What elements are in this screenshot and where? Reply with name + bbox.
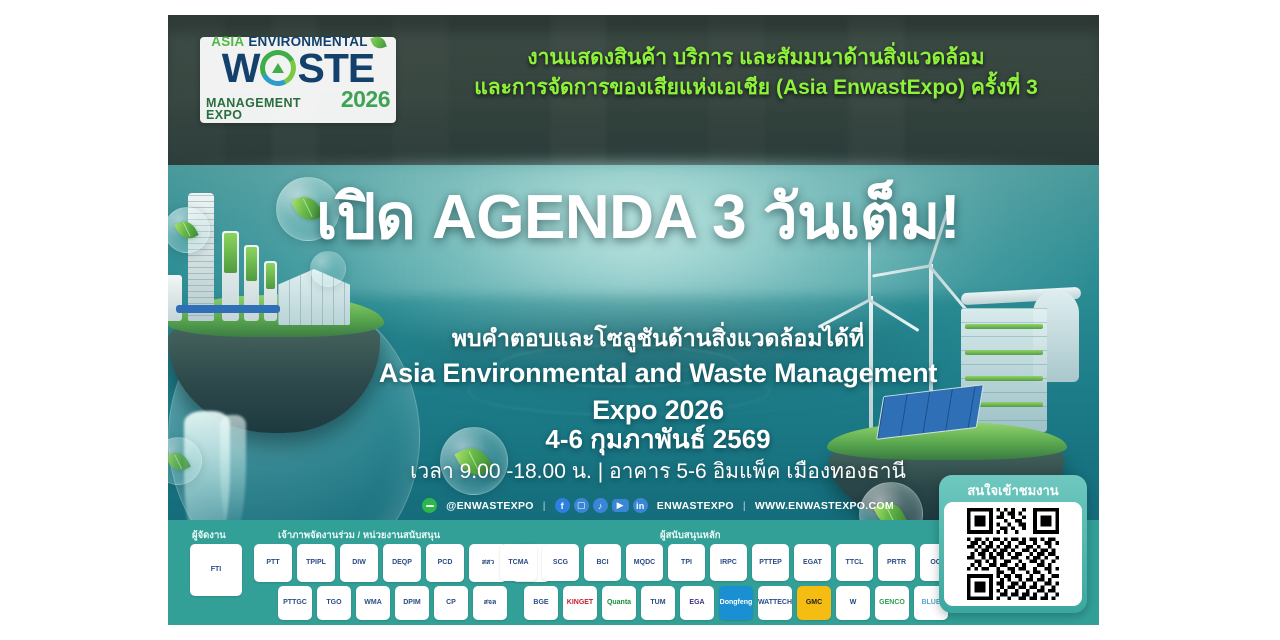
sponsor-logo: Dongfeng	[719, 586, 753, 620]
small-bubble	[310, 251, 346, 287]
qr-card[interactable]: สนใจเข้าชมงาน	[939, 475, 1087, 613]
recycle-ring	[256, 46, 301, 91]
header-thai-text: งานแสดงสินค้า บริการ และสัมมนาด้านสิ่งแว…	[436, 43, 1076, 104]
sponsor-logo: PTTEP	[752, 544, 789, 581]
social-handle: ENWASTEXPO	[657, 500, 734, 512]
sponsor-logo: WATTECH	[758, 586, 792, 620]
logo-year-text: 2026	[341, 88, 390, 111]
sponsor-logo: KINGET	[563, 586, 597, 620]
sponsor-logo: W	[836, 586, 870, 620]
building-greenery	[965, 324, 1043, 329]
label-cohost: เจ้าภาพจัดงานร่วม / หน่วยงานสนับสนุน	[278, 528, 440, 543]
sponsor-logo: GENCO	[875, 586, 909, 620]
website-url[interactable]: WWW.ENWASTEXPO.COM	[755, 500, 894, 512]
sponsor-logo: BCI	[584, 544, 621, 581]
sponsor-logo: DIW	[340, 544, 378, 582]
sponsor-logo: TPIPL	[297, 544, 335, 582]
logo-management-expo-text: MANAGEMENT EXPO	[206, 97, 335, 122]
sponsor-logo: SCG	[542, 544, 579, 581]
leaf-icon	[174, 217, 198, 243]
separator: |	[543, 500, 546, 512]
organizer-logo-row: FTI	[190, 544, 242, 596]
sponsor-logo: PTT	[254, 544, 292, 582]
logo-bottom-line: MANAGEMENT EXPO 2026	[206, 88, 390, 122]
event-date: 4-6 กุมภาพันธ์ 2569	[348, 419, 968, 460]
building-greenery	[965, 376, 1043, 381]
sponsor-logo: TCMA	[500, 544, 537, 581]
factory-stack-green	[266, 263, 275, 289]
sponsor-logo-row-2: BGE KINGET Quanta TUM EGA Dongfeng WATTE…	[524, 586, 948, 620]
sponsor-logo-row-1: TCMA SCG BCI MQDC TPI IRPC PTTEP EGAT TT…	[500, 544, 999, 581]
cohost-logo-row-2: PTTGC TGO WMA DPIM CP สจล	[278, 586, 507, 620]
header-line-1: งานแสดงสินค้า บริการ และสัมมนาด้านสิ่งแว…	[436, 43, 1076, 73]
recycle-icon	[260, 50, 296, 86]
sponsor-logo: PCD	[426, 544, 464, 582]
sponsor-logo: DPIM	[395, 586, 429, 620]
sponsor-logo: PTTGC	[278, 586, 312, 620]
label-sponsors: ผู้สนับสนุนหลัก	[660, 528, 721, 543]
logo-waste-ste: STE	[297, 49, 374, 88]
sponsor-logo: TPI	[668, 544, 705, 581]
separator: |	[743, 500, 746, 512]
sponsor-logo: IRPC	[710, 544, 747, 581]
qr-title: สนใจเข้าชมงาน	[944, 480, 1082, 502]
line-handle: @ENWASTEXPO	[446, 500, 534, 512]
sponsor-logo: สจล	[473, 586, 507, 620]
factory-stack-green	[224, 233, 237, 273]
subtitle-thai: พบคำตอบและโซลูชันด้านสิ่งแวดล้อมได้ที่	[348, 323, 968, 355]
factory-stack-green	[246, 247, 257, 281]
factory-block	[168, 275, 182, 321]
sponsor-logo: DEQP	[383, 544, 421, 582]
logo-waste-wordmark: W STE	[222, 49, 374, 88]
social-icon-group: f ▢ ♪ ▶ in	[555, 498, 648, 513]
header-line-2: และการจัดการของเสียแห่งเอเชีย (Asia Enwa…	[436, 73, 1076, 103]
expo-logo: ASIA ENVIRONMENTAL W STE MANAGEMENT EXPO…	[200, 37, 396, 123]
event-poster: ♻ ASIA ENVIRONMENTAL W STE MANAGEMENT EX…	[168, 15, 1099, 625]
sponsor-logo: Quanta	[602, 586, 636, 620]
linkedin-icon[interactable]: in	[633, 498, 648, 513]
event-venue: เวลา 9.00 -18.00 น. | อาคาร 5-6 อิมแพ็ค …	[318, 455, 998, 488]
sponsor-logo: TGO	[317, 586, 351, 620]
sponsor-logo: WMA	[356, 586, 390, 620]
poster-canvas: ♻ ASIA ENVIRONMENTAL W STE MANAGEMENT EX…	[0, 0, 1280, 640]
building-greenery	[965, 350, 1043, 355]
sponsor-logo: TUM	[641, 586, 675, 620]
turbine-blade	[928, 265, 968, 311]
sponsor-logo: EGAT	[794, 544, 831, 581]
line-icon[interactable]	[422, 498, 437, 513]
label-organizer: ผู้จัดงาน	[192, 528, 226, 543]
sponsor-logo: MQDC	[626, 544, 663, 581]
instagram-icon[interactable]: ▢	[574, 498, 589, 513]
leaf-icon	[168, 448, 191, 475]
sponsor-logo: GMC	[797, 586, 831, 620]
sponsor-logo: BGE	[524, 586, 558, 620]
tiktok-icon[interactable]: ♪	[593, 498, 608, 513]
sponsor-logo: CP	[434, 586, 468, 620]
facebook-icon[interactable]: f	[555, 498, 570, 513]
sponsor-logo: EGA	[680, 586, 714, 620]
sponsor-logo: TTCL	[836, 544, 873, 581]
solar-strip	[176, 305, 280, 313]
qr-box	[944, 502, 1082, 606]
social-bar: @ENWASTEXPO | f ▢ ♪ ▶ in ENWASTEXPO | WW…	[318, 498, 998, 513]
headline: เปิด AGENDA 3 วันเต็ม!	[268, 183, 1008, 252]
subtitle-block: พบคำตอบและโซลูชันด้านสิ่งแวดล้อมได้ที่ A…	[348, 323, 968, 429]
qr-code-icon	[967, 508, 1059, 600]
sponsor-logo: PRTR	[878, 544, 915, 581]
sponsor-logo: FTI	[190, 544, 242, 596]
youtube-icon[interactable]: ▶	[612, 499, 629, 512]
turbine-blade	[872, 265, 930, 278]
logo-waste-w: W	[222, 49, 260, 88]
